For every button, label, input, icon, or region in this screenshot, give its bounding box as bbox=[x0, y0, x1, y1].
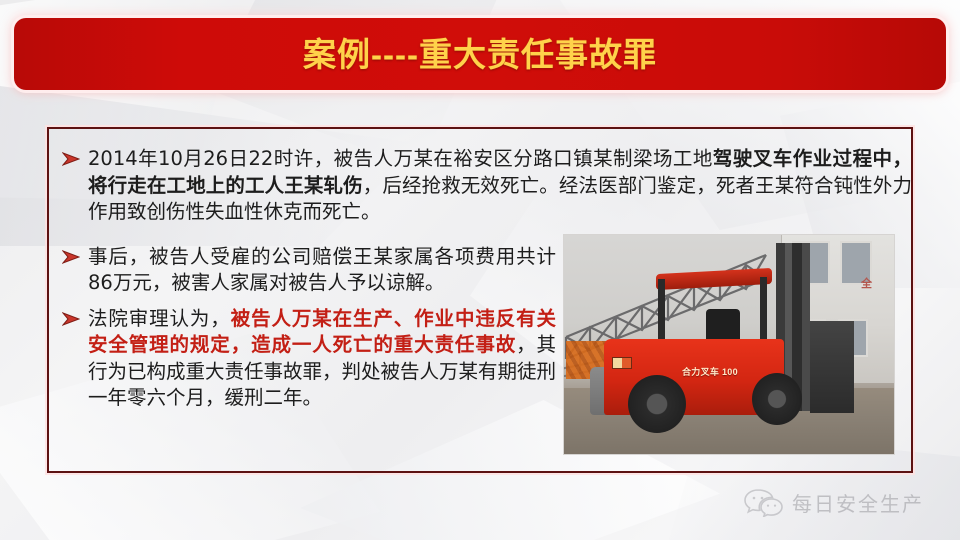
text-segment: 2014年10月26日22时许，被告人万某在裕安区分路口镇某制梁场工地 bbox=[88, 147, 713, 170]
forklift-accident-photo: 全 bbox=[563, 234, 895, 455]
forklift-rear-tire bbox=[628, 375, 686, 433]
forklift-post bbox=[760, 277, 767, 345]
arrow-bullet-icon bbox=[62, 306, 88, 326]
page-title: 案例----重大责任事故罪 bbox=[303, 38, 657, 71]
title-banner: 案例----重大责任事故罪 bbox=[14, 18, 946, 90]
forklift-fork bbox=[810, 321, 854, 413]
forklift-seat bbox=[706, 309, 740, 339]
text-segment: 法院审理认为， bbox=[88, 307, 231, 330]
forklift-brand-label: 合力叉车 100 bbox=[682, 365, 738, 378]
forklift-front-tire bbox=[752, 373, 802, 425]
wechat-icon bbox=[744, 487, 784, 517]
list-item: 2014年10月26日22时许，被告人万某在裕安区分路口镇某制梁场工地驾驶叉车作… bbox=[62, 146, 914, 226]
forklift-tail-lamp bbox=[612, 357, 632, 369]
text-segment: 事后，被告人受雇的公司赔偿王某家属各项费用共计86万元，被害人家属对被告人予以谅… bbox=[88, 245, 556, 295]
footer-account-name: 每日安全生产 bbox=[792, 488, 924, 517]
footer-logo: 每日安全生产 bbox=[744, 487, 924, 517]
wall-character: 全 bbox=[861, 275, 872, 291]
list-item-text: 法院审理认为，被告人万某在生产、作业中违反有关安全管理的规定，造成一人死亡的重大… bbox=[88, 306, 556, 412]
arrow-bullet-icon bbox=[62, 146, 88, 166]
arrow-bullet-icon bbox=[62, 244, 88, 264]
list-item-text: 事后，被告人受雇的公司赔偿王某家属各项费用共计86万元，被害人家属对被告人予以谅… bbox=[88, 244, 556, 297]
slide-canvas: 案例----重大责任事故罪 2014年10月26日22时许，被告人万某在裕安区分… bbox=[0, 0, 960, 540]
list-item-text: 2014年10月26日22时许，被告人万某在裕安区分路口镇某制梁场工地驾驶叉车作… bbox=[88, 146, 912, 226]
